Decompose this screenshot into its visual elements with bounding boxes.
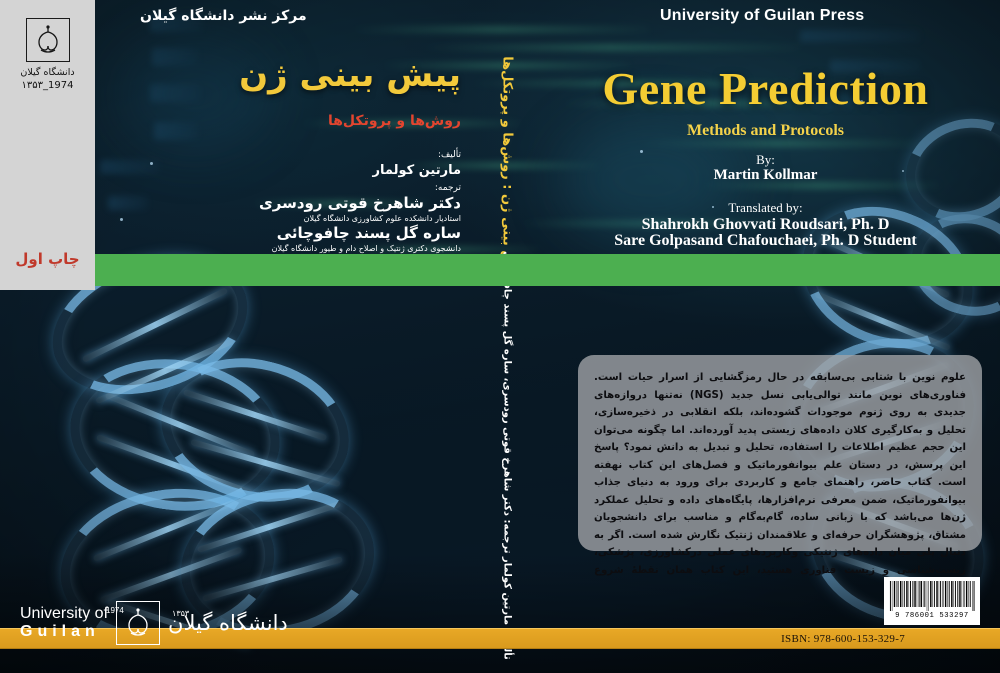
book-cover: دانشگاه گیلان ۱۳۵۳_1974 چاپ اول مرکز نشر… — [0, 0, 1000, 673]
publisher-name-en: University of Guilan Press — [660, 0, 864, 32]
publisher-name-fa: مرکز نشر دانشگاه گیلان — [140, 0, 307, 32]
translator1-name-fa: دکتر شاهرخ قوتی رودسری — [115, 194, 461, 212]
spine-title-fa: پیش بینی ژن : روش‌ها و پروتکل‌ها — [500, 56, 515, 279]
spine-authors-fa: تألیف: مارتین کولمار ترجمه: دکتر شاهرخ ق… — [502, 251, 513, 660]
abstract-text-fa: علوم نوین با شتابی بی‌سابقه در حال رمزگش… — [594, 369, 966, 597]
logo-year-en: 1974 — [106, 607, 124, 616]
isbn-label: ISBN: 978-600-153-329-7 — [781, 628, 905, 649]
translated-by-label: Translated by: — [531, 200, 1000, 216]
abstract-panel: علوم نوین با شتابی بی‌سابقه در حال رمزگش… — [578, 355, 982, 551]
translator-label-fa: ترجمه: — [115, 183, 461, 193]
university-line1: University of — [20, 605, 108, 623]
university-name-en: 1974 University of Guilan — [20, 605, 108, 640]
publisher-band — [95, 254, 1000, 286]
logo-year-fa: ۱۳۵۳ — [172, 609, 189, 618]
subtitle-en: Methods and Protocols — [531, 122, 1000, 140]
flap-logo-year: ۱۳۵۳_1974 — [22, 80, 74, 91]
barcode-digits: 9 786001 533297 — [889, 612, 975, 620]
translator2-name-fa: ساره گل پسند چافوچائی — [115, 224, 461, 242]
cover-flap: دانشگاه گیلان ۱۳۵۳_1974 چاپ اول — [0, 0, 95, 290]
author-name-en: Martin Kollmar — [531, 167, 1000, 184]
university-line2: Guilan — [20, 623, 100, 641]
edition-label: چاپ اول — [0, 250, 95, 268]
back-cover-panel: پیش بینی ژن روش‌ها و پروتکل‌ها تألیف: ما… — [95, 0, 485, 673]
flap-logo-fa: دانشگاه گیلان — [20, 67, 74, 78]
author-name-fa: مارتین کولمار — [115, 163, 461, 178]
barcode: 9 786001 533297 — [884, 577, 980, 625]
by-label: By: — [531, 152, 1000, 168]
university-logo-bottom: 1974 University of Guilan ۱۳۵۳ دانشگاه گ… — [20, 592, 288, 654]
guilan-emblem-icon — [26, 18, 70, 62]
author-label-fa: تألیف: — [115, 150, 461, 160]
translator1-affiliation-fa: استادیار دانشکده علوم کشاورزی دانشگاه گی… — [115, 214, 461, 223]
translator2-name-en: Sare Golpasand Chafouchaei, Ph. D Studen… — [531, 232, 1000, 250]
translator2-affiliation-fa: دانشجوی دکتری ژنتیک و اصلاح دام و طیور د… — [115, 244, 461, 253]
title-fa: پیش بینی ژن — [115, 55, 461, 95]
title-en: Gene Prediction — [531, 62, 1000, 115]
subtitle-fa: روش‌ها و پروتکل‌ها — [115, 113, 461, 129]
flap-university-logo: دانشگاه گیلان ۱۳۵۳_1974 — [0, 18, 95, 91]
book-spine: پیش بینی ژن : روش‌ها و پروتکل‌ها تألیف: … — [483, 0, 531, 673]
